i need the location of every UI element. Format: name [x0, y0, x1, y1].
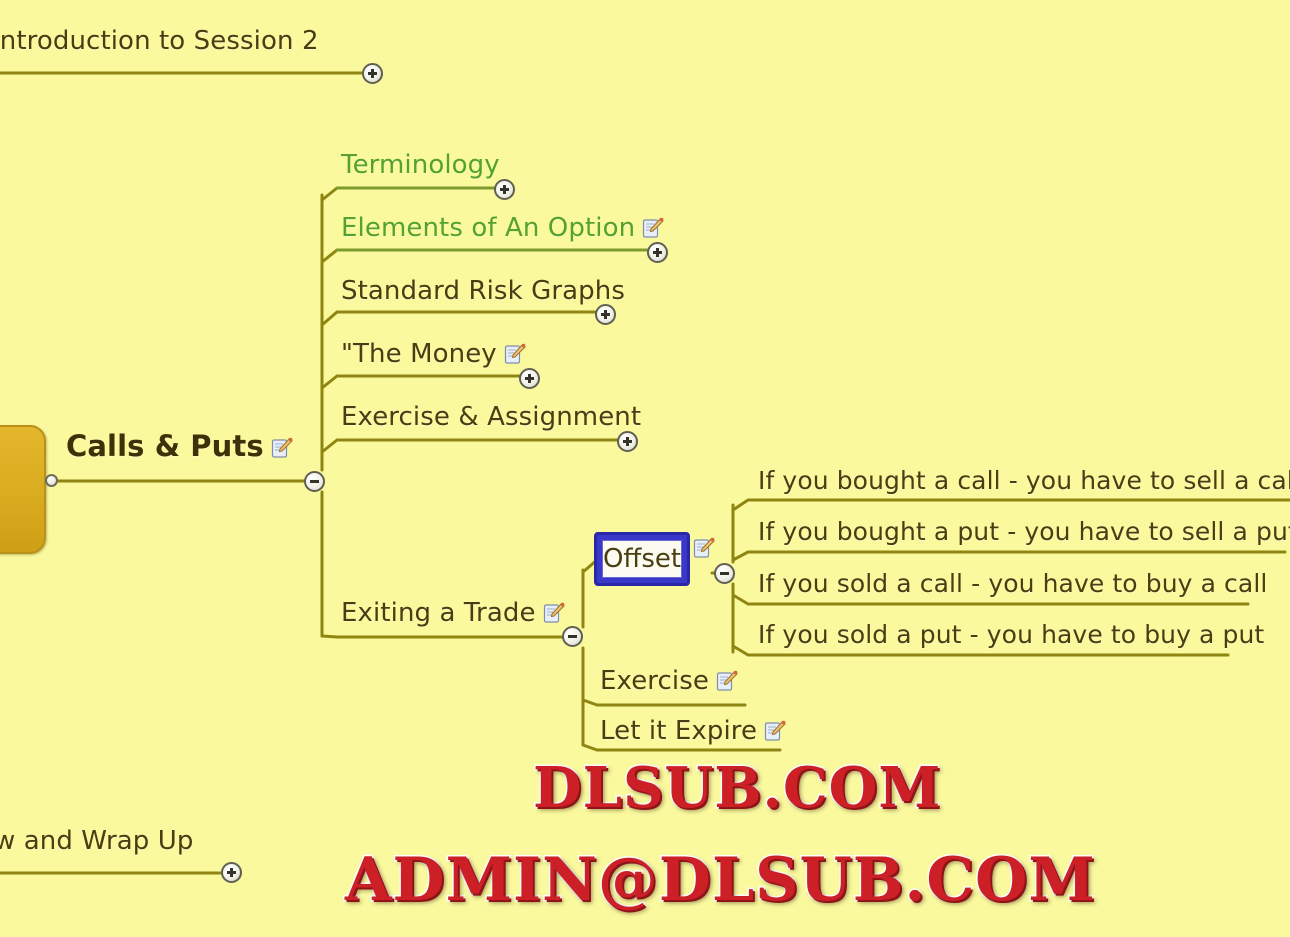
node-standard-risk-graphs[interactable]: Standard Risk Graphs	[341, 278, 625, 304]
node-label: Exiting a Trade	[341, 600, 536, 626]
watermark-site: DLSUB.COM	[533, 755, 941, 821]
node-label: "The Money	[341, 341, 497, 367]
node-wrap-up[interactable]: w and Wrap Up	[0, 828, 193, 854]
node-label: Introduction to Session 2	[0, 28, 319, 54]
expand-toggle-standard-risk-graphs[interactable]	[595, 304, 616, 325]
note-icon[interactable]	[716, 670, 738, 692]
expand-toggle-wrap-up[interactable]	[221, 862, 242, 883]
expand-toggle-exercise-and-assignment[interactable]	[617, 431, 638, 452]
watermark-site-text: DLSUB.COM	[533, 755, 941, 821]
node-label: If you bought a put - you have to sell a…	[758, 519, 1290, 544]
node-label: Exercise & Assignment	[341, 404, 641, 430]
note-icon[interactable]	[543, 602, 565, 624]
collapse-toggle-exiting-a-trade[interactable]	[562, 626, 583, 647]
expand-toggle-terminology[interactable]	[494, 179, 515, 200]
expand-toggle-elements-of-an-option[interactable]	[647, 242, 668, 263]
note-icon[interactable]	[642, 217, 664, 239]
node-exercise[interactable]: Exercise	[600, 668, 738, 694]
node-terminology[interactable]: Terminology	[341, 152, 500, 178]
node-label: Offset	[603, 544, 681, 574]
node-label: Exercise	[600, 668, 709, 694]
node-label: If you sold a call - you have to buy a c…	[758, 571, 1267, 596]
expand-toggle-the-money[interactable]	[519, 368, 540, 389]
node-label: Elements of An Option	[341, 215, 635, 241]
node-label: w and Wrap Up	[0, 828, 193, 854]
mindmap-canvas: Introduction to Session 2 Calls & Puts T…	[0, 0, 1290, 937]
watermark-email-text: ADMIN@DLSUB.COM	[345, 845, 1096, 915]
node-if-you-sold-a-call[interactable]: If you sold a call - you have to buy a c…	[758, 571, 1267, 596]
root-connector-dot[interactable]	[45, 474, 58, 487]
node-exercise-and-assignment[interactable]: Exercise & Assignment	[341, 404, 641, 430]
node-let-it-expire[interactable]: Let it Expire	[600, 718, 786, 744]
expand-toggle-introduction[interactable]	[362, 63, 383, 84]
collapse-toggle-calls-and-puts[interactable]	[304, 471, 325, 492]
node-exiting-a-trade[interactable]: Exiting a Trade	[341, 600, 565, 626]
node-elements-of-an-option[interactable]: Elements of An Option	[341, 215, 664, 241]
node-the-money[interactable]: "The Money	[341, 341, 526, 367]
watermark-email: ADMIN@DLSUB.COM	[345, 845, 1096, 915]
node-label: Calls & Puts	[66, 432, 264, 461]
node-label: Terminology	[341, 152, 500, 178]
node-label: If you bought a call - you have to sell …	[758, 468, 1290, 493]
root-node[interactable]	[0, 425, 46, 554]
node-label: Standard Risk Graphs	[341, 278, 625, 304]
note-icon[interactable]	[271, 437, 293, 459]
collapse-toggle-offset[interactable]	[714, 563, 735, 584]
node-offset-selected[interactable]: Offset	[594, 532, 690, 586]
node-label: Let it Expire	[600, 718, 757, 744]
note-icon[interactable]	[764, 720, 786, 742]
node-if-you-bought-a-call[interactable]: If you bought a call - you have to sell …	[758, 468, 1290, 493]
node-introduction-to-session-2[interactable]: Introduction to Session 2	[0, 28, 319, 54]
note-icon[interactable]	[504, 343, 526, 365]
node-label: If you sold a put - you have to buy a pu…	[758, 622, 1264, 647]
node-calls-and-puts[interactable]: Calls & Puts	[66, 432, 293, 461]
note-icon[interactable]	[693, 537, 715, 559]
node-if-you-bought-a-put[interactable]: If you bought a put - you have to sell a…	[758, 519, 1290, 544]
node-if-you-sold-a-put[interactable]: If you sold a put - you have to buy a pu…	[758, 622, 1264, 647]
